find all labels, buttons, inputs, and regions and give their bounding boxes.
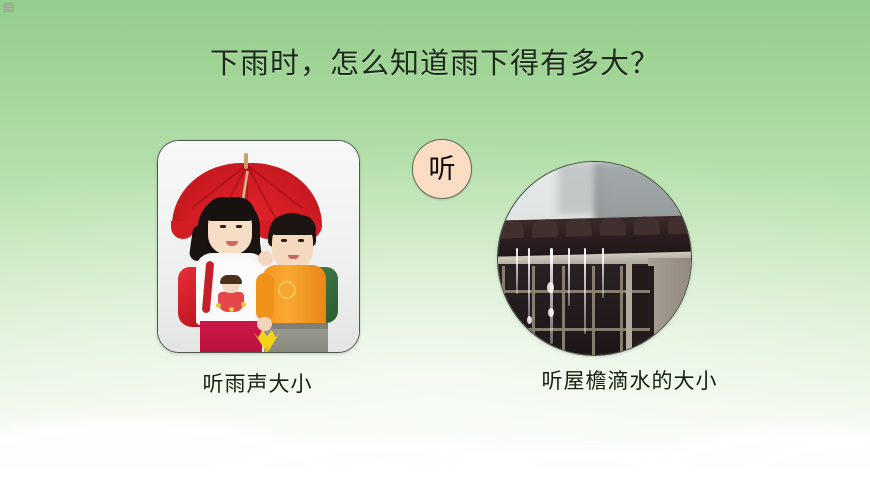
window-grill-bar	[562, 266, 565, 356]
water-drip	[568, 248, 570, 306]
water-drip	[528, 248, 530, 320]
window-grill-bar	[592, 266, 595, 356]
shirt-logo	[278, 281, 296, 299]
water-droplet	[527, 316, 532, 324]
girl-eye	[220, 225, 226, 228]
yellow-umbrella-stick	[265, 347, 268, 352]
water-drip	[550, 248, 553, 344]
umbrella-tip	[244, 153, 248, 169]
girl-eye	[236, 225, 242, 228]
girl-hand	[258, 251, 273, 266]
boy-hand	[257, 317, 272, 331]
window-grill-bar	[502, 266, 505, 356]
photo-rain-sound-image	[158, 141, 359, 352]
caption-eaves-drip: 听屋檐滴水的大小	[497, 365, 762, 395]
dark-doorway	[632, 266, 654, 356]
girl-pants	[200, 321, 262, 352]
boy-eye	[281, 239, 287, 242]
shirt-print-doll	[214, 277, 248, 317]
boy-fringe	[270, 215, 316, 235]
girl-fringe	[205, 197, 255, 221]
window-grill-bar	[620, 266, 623, 356]
water-drip	[602, 248, 604, 298]
listen-badge[interactable]: 听	[412, 139, 472, 199]
water-droplet	[548, 308, 554, 317]
photo-eaves-drip[interactable]	[497, 161, 692, 356]
water-drip	[584, 248, 586, 334]
water-drip	[516, 248, 518, 294]
water-droplet	[547, 282, 554, 293]
boy-waistband	[264, 323, 328, 329]
caption-rain-sound: 听雨声大小	[157, 368, 358, 398]
corner-artifact	[3, 3, 14, 12]
window-frame	[626, 262, 632, 356]
right-wall	[648, 258, 692, 356]
boy-eye	[298, 239, 304, 242]
photo-rain-sound[interactable]	[157, 140, 360, 353]
page-title: 下雨时，怎么知道雨下得有多大？	[0, 40, 870, 82]
boy-arm	[256, 273, 274, 321]
slide-canvas: 下雨时，怎么知道雨下得有多大？	[0, 0, 870, 489]
listen-badge-label: 听	[429, 156, 456, 183]
window-grill-bar	[532, 266, 535, 356]
